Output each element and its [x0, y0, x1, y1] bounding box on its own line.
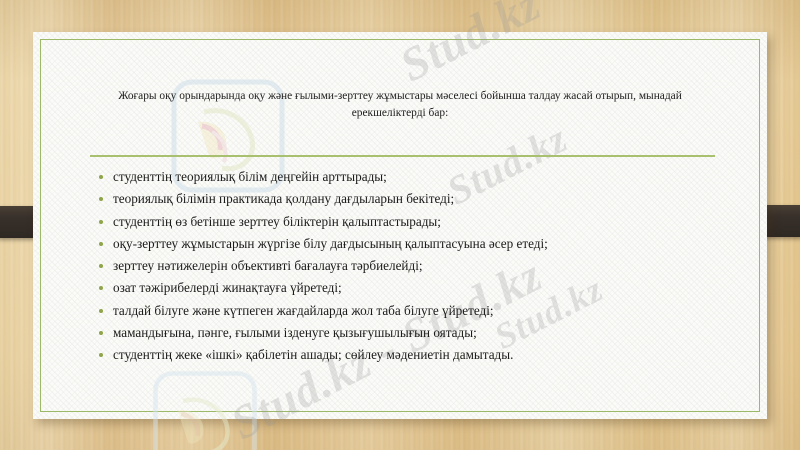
list-item: студенттің өз бетінше зерттеу біліктерін…	[92, 211, 732, 233]
list-item: оқу-зерттеу жұмыстарын жүргізе білу дағд…	[92, 233, 732, 255]
list-item-label: студенттің жеке «ішкі» қабілетін ашады; …	[113, 347, 513, 362]
bullet-dot-icon	[99, 331, 103, 335]
title-divider	[90, 155, 715, 157]
bullet-dot-icon	[99, 309, 103, 313]
list-item: теориялық білімін практикада қолдану дағ…	[92, 188, 732, 210]
slide-content: Жоғары оқу орындарында оқу және ғылыми-з…	[0, 0, 800, 450]
list-item-label: зерттеу нәтижелерін объективті бағалауға…	[113, 258, 423, 273]
bullet-dot-icon	[99, 353, 103, 357]
list-item: талдай білуге және күтпеген жағдайларда …	[92, 300, 732, 322]
list-item-label: теориялық білімін практикада қолдану дағ…	[113, 191, 454, 206]
bullet-dot-icon	[99, 242, 103, 246]
bullet-dot-icon	[99, 286, 103, 290]
list-item-label: талдай білуге және күтпеген жағдайларда …	[113, 303, 494, 318]
list-item: зерттеу нәтижелерін объективті бағалауға…	[92, 255, 732, 277]
list-item: студенттің жеке «ішкі» қабілетін ашады; …	[92, 344, 732, 366]
slide-title: Жоғары оқу орындарында оқу және ғылыми-з…	[88, 88, 712, 122]
presentation-slide: Stud.kz - Stud.kz Stud.kz Stud.kz Stud.k…	[0, 0, 800, 450]
list-item: мамандығына, пәнге, ғылыми ізденуге қызы…	[92, 322, 732, 344]
list-item: студенттің теориялық білім деңгейін артт…	[92, 166, 732, 188]
bullet-dot-icon	[99, 220, 103, 224]
bullet-list: студенттің теориялық білім деңгейін артт…	[92, 166, 732, 367]
list-item: озат тәжірибелерді жинақтауға үйретеді;	[92, 277, 732, 299]
list-item-label: озат тәжірибелерді жинақтауға үйретеді;	[113, 280, 342, 295]
bullet-dot-icon	[99, 197, 103, 201]
list-item-label: мамандығына, пәнге, ғылыми ізденуге қызы…	[113, 325, 477, 340]
bullet-dot-icon	[99, 175, 103, 179]
list-item-label: студенттің теориялық білім деңгейін артт…	[113, 169, 387, 184]
list-item-label: оқу-зерттеу жұмыстарын жүргізе білу дағд…	[113, 236, 548, 251]
bullet-dot-icon	[99, 264, 103, 268]
list-item-label: студенттің өз бетінше зерттеу біліктерін…	[113, 214, 441, 229]
